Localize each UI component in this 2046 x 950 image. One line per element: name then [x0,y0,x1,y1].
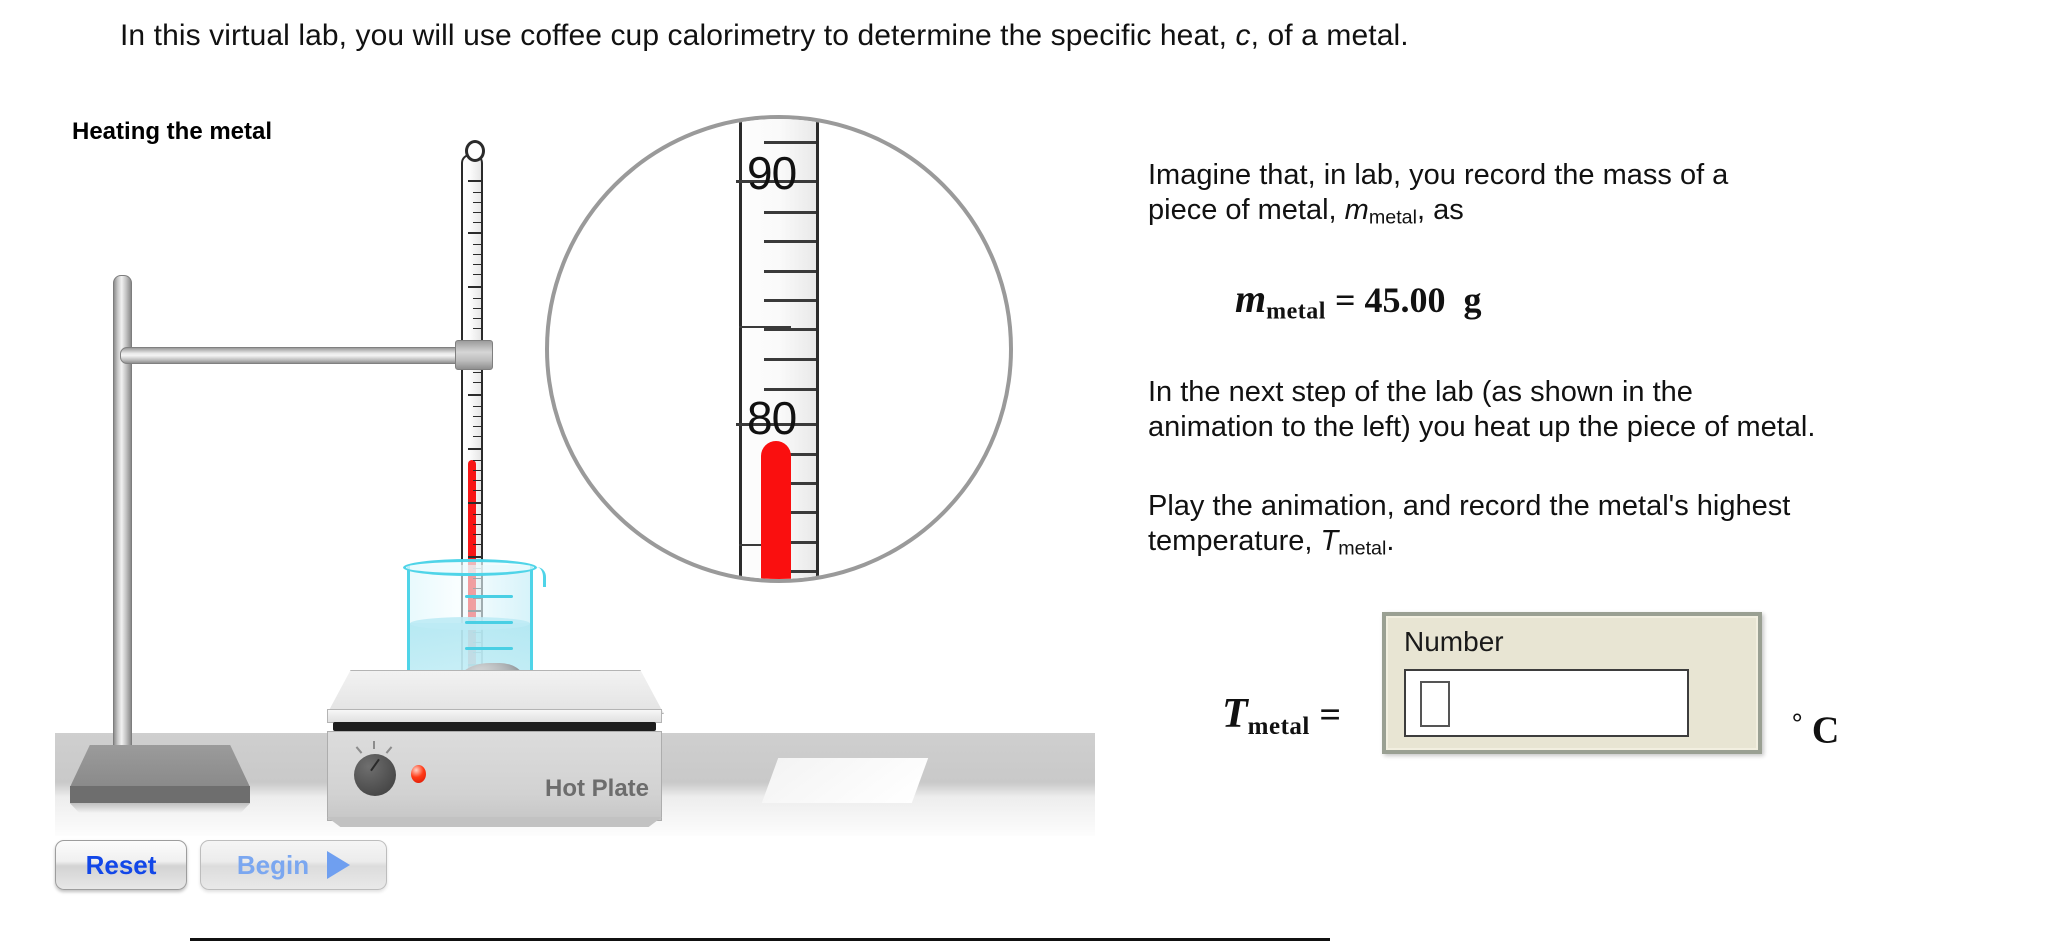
intro-suffix: , of a metal. [1251,19,1409,52]
reset-button[interactable]: Reset [55,840,187,890]
answer-symbol-T: T [1222,691,1248,737]
mass-unit: g [1463,280,1481,320]
para3-line2-post: . [1386,525,1394,557]
play-triangle-icon [327,851,350,879]
hot-plate-surface-edge [327,709,662,723]
temperature-input[interactable] [1404,669,1689,737]
paragraph-mass-intro: Imagine that, in lab, you record the mas… [1148,158,1938,230]
para2-line1: In the next step of the lab (as shown in… [1148,376,1693,408]
para2-line2: animation to the left) you heat up the p… [1148,411,1815,443]
answer-equals: = [1319,694,1341,736]
unit-celsius: C [1812,710,1839,752]
begin-button[interactable]: Begin [200,840,387,890]
bench-paper-sheet [762,758,928,803]
input-caret-box [1420,681,1450,727]
ring-stand-rod [113,275,132,747]
para3-line2-pre: temperature, [1148,525,1320,557]
para1-sub-metal: metal [1369,207,1417,229]
para1-line2-post: , as [1417,194,1464,226]
magnifier-circle: 90 80 [545,115,1013,583]
beaker-graduation [465,621,513,624]
intro-text: In this virtual lab, you will use coffee… [120,18,1920,54]
intro-prefix: In this virtual lab, you will use coffee… [120,19,1236,52]
mass-equals: = [1335,280,1356,320]
beaker-graduation [465,647,513,650]
answer-field-label: Number [1404,626,1504,658]
mass-value: 45.00 [1364,280,1445,320]
magnified-tick-label-90: 90 [747,146,796,200]
para1-var-m: m [1345,194,1369,226]
beaker-spout [527,567,546,587]
mass-subscript: metal [1266,299,1326,325]
ring-stand-arm [120,347,472,364]
hot-plate-knob[interactable] [354,754,396,796]
para1-line2-pre: piece of metal, [1148,194,1345,226]
degree-symbol-icon: ° [1792,708,1802,737]
ring-stand-base [70,745,250,787]
answer-unit: ° C [1792,708,1839,753]
paragraph-play-instruction: Play the animation, and record the metal… [1148,489,2028,561]
beaker-rim [403,559,537,576]
bottom-divider [190,938,1330,941]
answer-equation-label: Tmetal = [1222,690,1341,741]
para3-sub-metal: metal [1338,538,1386,560]
para3-line1: Play the animation, and record the metal… [1148,490,1790,522]
hot-plate-label: Hot Plate [545,775,649,803]
hot-plate-surface [327,670,664,714]
thermometer-hanging-loop [465,140,485,162]
magnified-half-tick [739,326,791,328]
reset-button-label: Reset [86,850,157,881]
hot-plate-foot [327,817,662,827]
hot-plate-power-led-icon [411,765,426,783]
begin-button-label: Begin [237,850,309,881]
beaker-graduation [465,595,513,598]
panel-title: Heating the metal [72,118,272,146]
answer-input-panel: Number [1382,612,1762,754]
mass-symbol: m [1235,276,1266,321]
para3-var-T: T [1320,525,1338,557]
hot-plate-heating-element [333,722,656,731]
intro-variable-c: c [1236,19,1251,52]
ring-stand-base-front [70,786,250,803]
magnified-mercury-column [761,441,791,583]
paragraph-next-step: In the next step of the lab (as shown in… [1148,375,2046,446]
mass-equation: mmetal = 45.00 g [1235,275,1481,326]
magnified-tick-label-80: 80 [747,391,796,445]
para1-line1: Imagine that, in lab, you record the mas… [1148,159,1728,191]
stand-base-shadow [64,803,256,813]
answer-subscript-metal: metal [1248,713,1310,740]
thermometer-clamp [455,340,493,370]
